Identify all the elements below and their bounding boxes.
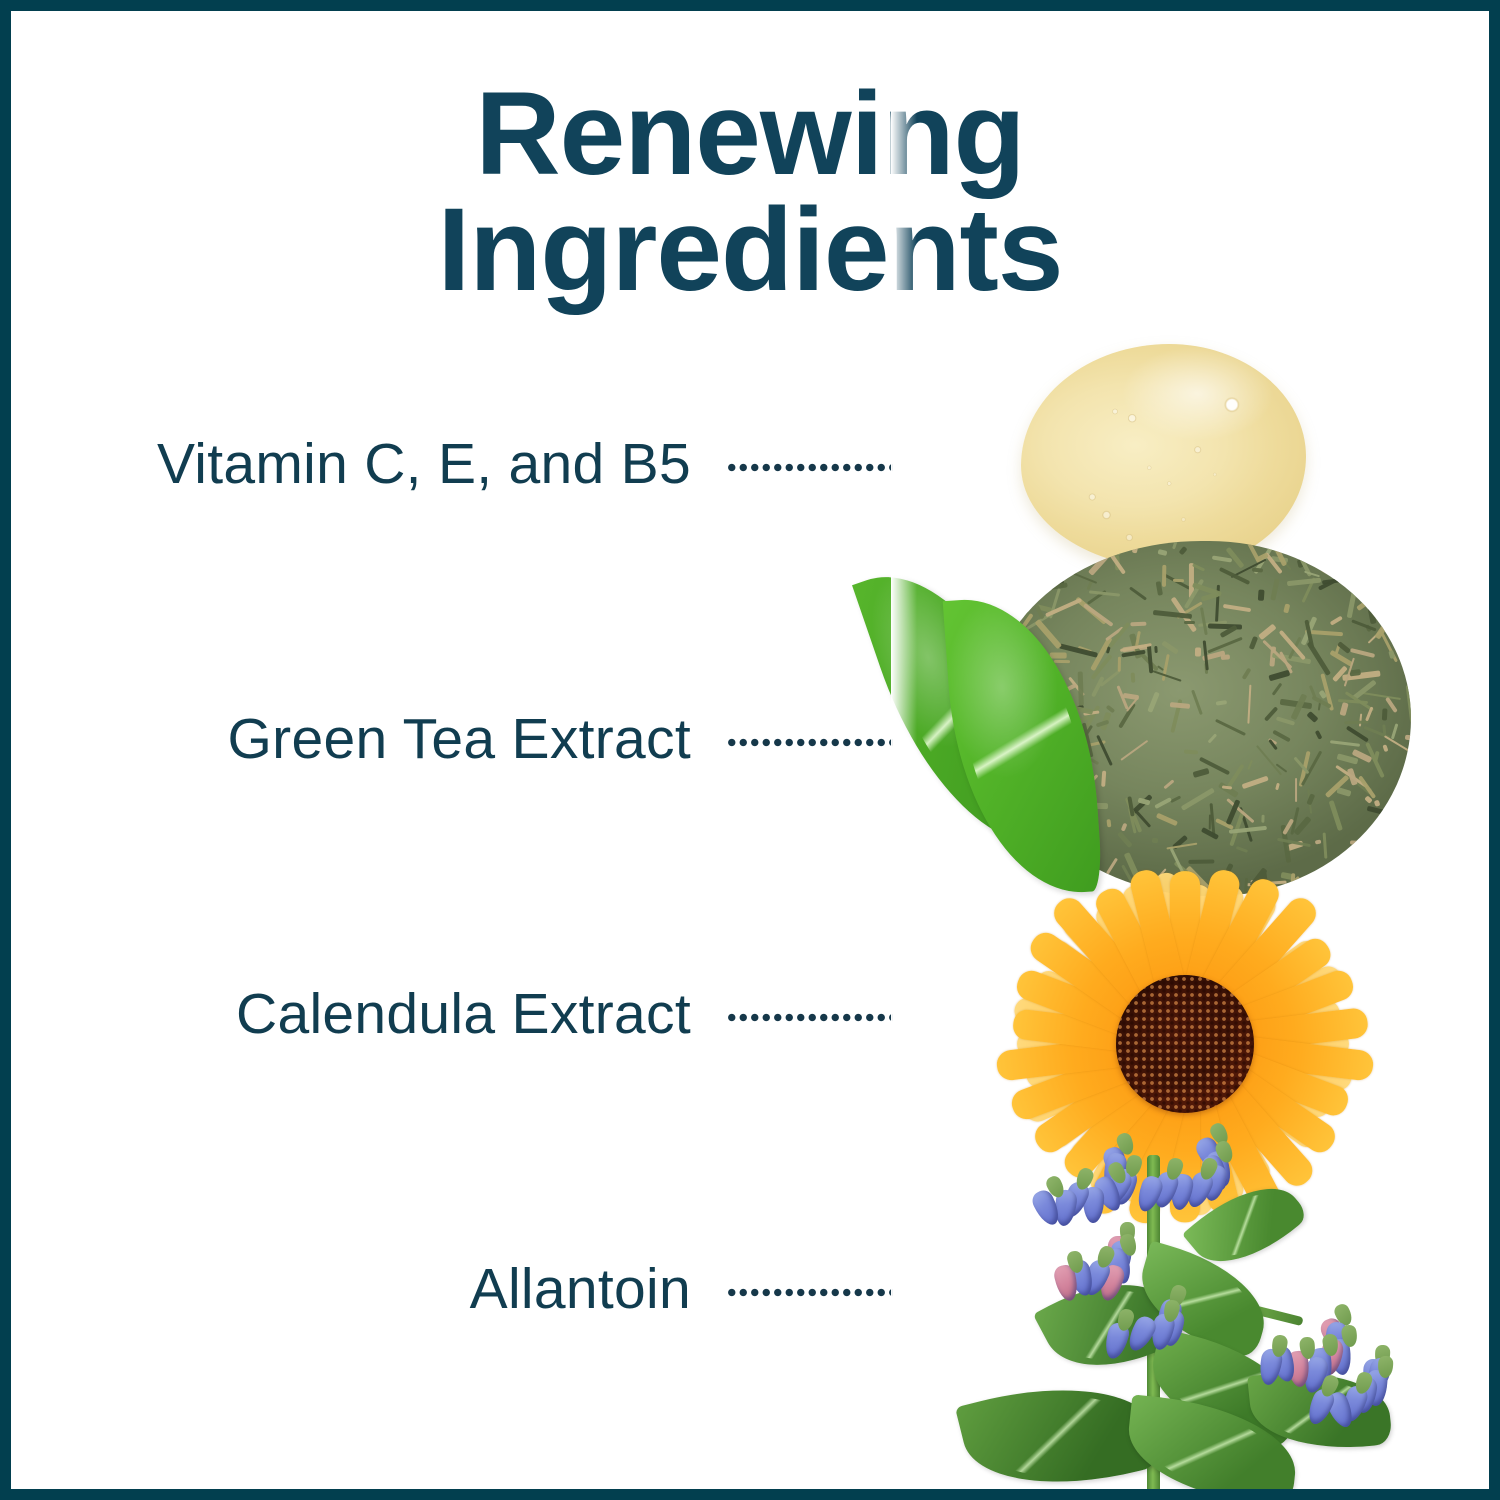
ingredients-panel: Renewing Ingredients Vitamin C, E, and B…: [0, 0, 1500, 1500]
ingredient-label: Green Tea Extract: [51, 706, 691, 772]
comfrey-bud: [1377, 1356, 1393, 1379]
list-item: Vitamin C, E, and B5: [11, 431, 911, 706]
comfrey-flower: [1134, 1174, 1166, 1215]
ingredient-label: Vitamin C, E, and B5: [51, 431, 691, 497]
comfrey-plant-image: [951, 1131, 1431, 1500]
ingredient-label: Calendula Extract: [51, 981, 691, 1047]
calendula-flower-center: [1116, 975, 1254, 1113]
ingredient-list: Vitamin C, E, and B5 Green Tea Extract C…: [11, 431, 911, 1500]
dotted-leader-icon: [726, 1288, 893, 1297]
comfrey-leaf-vein: [971, 1371, 1148, 1500]
dotted-leader-icon: [726, 1013, 893, 1022]
list-item: Allantoin: [11, 1256, 911, 1500]
list-item: Green Tea Extract: [11, 706, 911, 981]
ingredient-imagery-stack: [891, 11, 1500, 1500]
ingredient-label: Allantoin: [51, 1256, 691, 1322]
serum-oil-drop-image: [1021, 344, 1306, 569]
dotted-leader-icon: [726, 738, 893, 747]
list-item: Calendula Extract: [11, 981, 911, 1256]
dotted-leader-icon: [726, 463, 893, 472]
